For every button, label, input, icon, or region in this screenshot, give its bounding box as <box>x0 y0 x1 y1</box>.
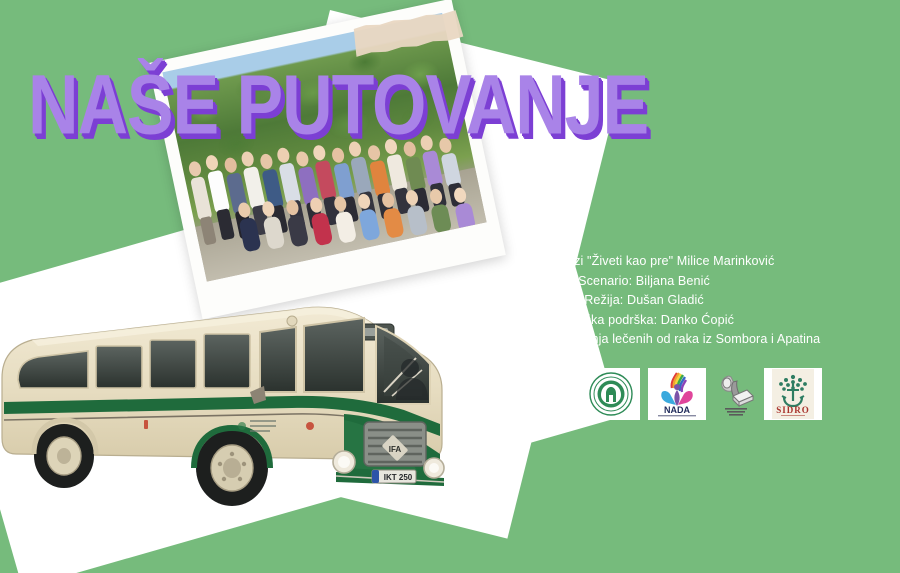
nada-logo: NADA <box>648 368 706 420</box>
green-circular-emblem-logo <box>582 368 640 420</box>
svg-text:IFA: IFA <box>389 445 402 454</box>
front-wheel <box>196 430 268 506</box>
ribbon-figures-icon: NADA <box>652 370 702 418</box>
license-plate: IKT 250 <box>372 470 416 483</box>
page-title: NAŠE PUTOVANJE <box>28 62 648 146</box>
credit-line-scenario: Scenario: Biljana Benić <box>434 272 854 292</box>
rear-wheel <box>34 424 94 488</box>
svg-text:IKT 250: IKT 250 <box>384 473 413 482</box>
svg-text:NADA: NADA <box>664 405 690 415</box>
credits-block: Prema knjizi "Živeti kao pre" Milice Mar… <box>434 252 854 350</box>
credit-line-director: Režija: Dušan Gladić <box>434 291 854 311</box>
figure-book-icon <box>715 370 755 418</box>
credit-line-book: Prema knjizi "Živeti kao pre" Milice Mar… <box>434 252 854 272</box>
vintage-bus-illustration: IFA IKT 250 <box>0 296 462 506</box>
poster-canvas: NAŠE PUTOVANJE <box>0 0 900 573</box>
sidro-logo: SIDRO <box>764 368 822 420</box>
circular-emblem-icon <box>588 371 634 417</box>
credit-line-tech-support: Tehnička podrška: Danko Ćopić <box>434 311 854 331</box>
sponsor-logo-row: NADA <box>582 368 822 420</box>
svg-text:SIDRO: SIDRO <box>776 405 810 415</box>
credit-line-cast: Glume članovi udruženja lečenih od raka … <box>434 330 854 350</box>
tree-anchor-icon: SIDRO <box>772 369 814 419</box>
grayscale-support-logo <box>714 368 756 420</box>
